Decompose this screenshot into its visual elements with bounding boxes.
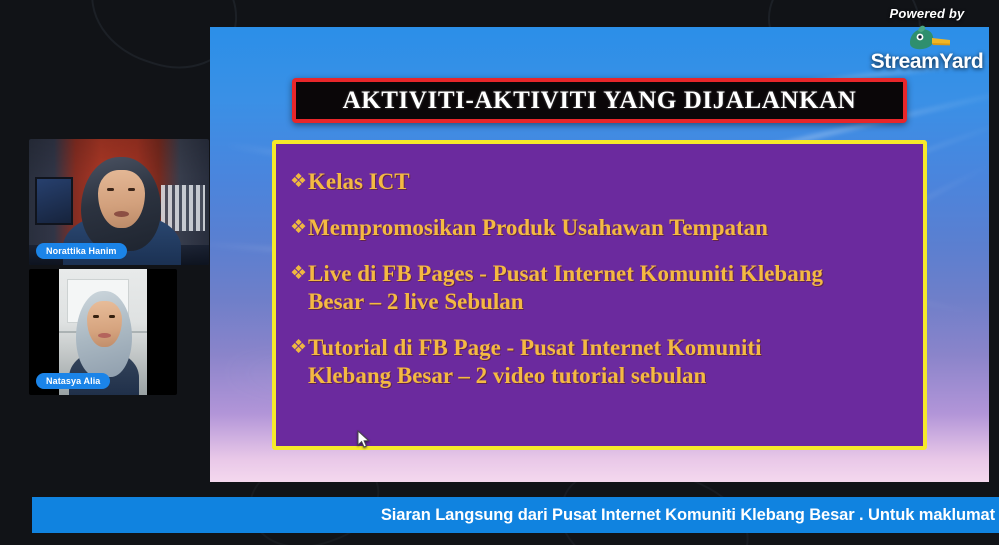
slide-title: AKTIVITI-AKTIVITI YANG DIJALANKAN — [343, 87, 857, 115]
live-caption-banner: Siaran Langsung dari Pusat Internet Komu… — [32, 497, 999, 533]
bullet-diamond-icon: ❖ — [290, 334, 307, 359]
person-eye — [93, 315, 99, 318]
shared-slide: AKTIVITI-AKTIVITI YANG DIJALANKAN ❖ Kela… — [210, 27, 989, 482]
slide-bullet-item: ❖ Live di FB Pages - Pusat Internet Komu… — [290, 260, 903, 316]
person-eye — [128, 188, 135, 191]
person-eye — [109, 315, 115, 318]
streamyard-watermark: Powered by StreamYard — [863, 6, 991, 72]
person-mouth — [98, 333, 111, 338]
participant-name-badge: Norattika Hanim — [36, 243, 127, 259]
participant-video-tile[interactable]: Natasya Alia — [29, 269, 177, 395]
slide-bullet-item: ❖ Kelas ICT — [290, 168, 903, 196]
bullet-diamond-icon: ❖ — [290, 260, 307, 285]
participant-name-badge: Natasya Alia — [36, 373, 110, 389]
participant-video-tile[interactable]: Norattika Hanim — [29, 139, 209, 265]
streamyard-broadcast-stage: Powered by StreamYard AKTIVITI-AKTIVITI … — [0, 0, 999, 545]
slide-bullet-item: ❖ Tutorial di FB Page - Pusat Internet K… — [290, 334, 903, 390]
slide-title-plaque: AKTIVITI-AKTIVITI YANG DIJALANKAN — [292, 78, 907, 123]
person-mouth — [114, 211, 129, 217]
slide-bullet-text: Kelas ICT — [308, 168, 410, 196]
duck-mascot-icon — [863, 23, 991, 53]
powered-by-label: Powered by — [863, 6, 991, 21]
person-eye — [107, 188, 114, 191]
slide-content-panel: ❖ Kelas ICT ❖ Mempromosikan Produk Usaha… — [272, 140, 927, 450]
streamyard-brand-label: StreamYard — [863, 51, 991, 72]
scene-monitor — [35, 177, 73, 225]
slide-bullet-text: Live di FB Pages - Pusat Internet Komuni… — [308, 260, 823, 316]
bullet-diamond-icon: ❖ — [290, 214, 307, 239]
bullet-diamond-icon: ❖ — [290, 168, 307, 193]
slide-bullet-text: Mempromosikan Produk Usahawan Tempatan — [308, 214, 768, 242]
caption-text: Siaran Langsung dari Pusat Internet Komu… — [381, 506, 995, 525]
slide-bullet-item: ❖ Mempromosikan Produk Usahawan Tempatan — [290, 214, 903, 242]
slide-bullet-text: Tutorial di FB Page - Pusat Internet Kom… — [308, 334, 761, 390]
